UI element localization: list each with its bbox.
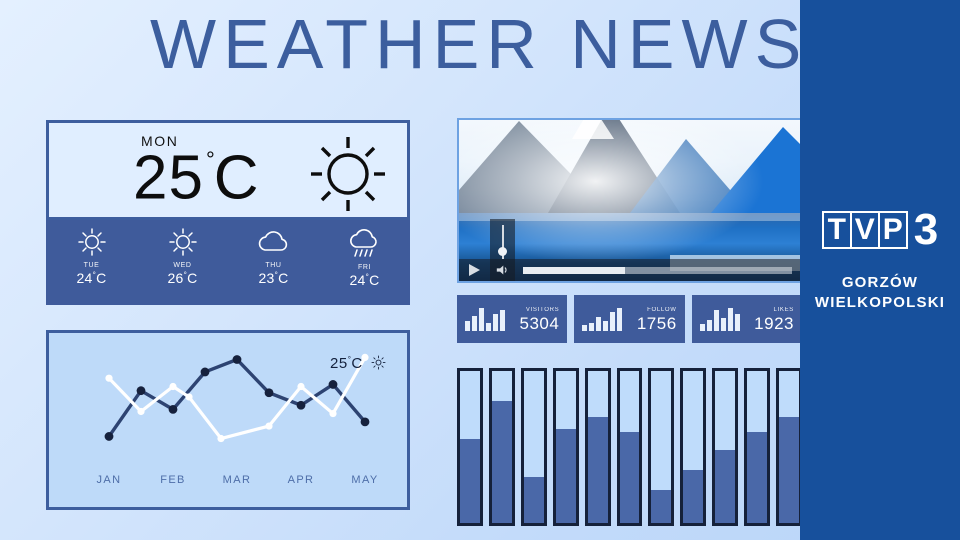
tvp-letter-row: T V P 3 bbox=[800, 208, 960, 252]
chart-x-tick: APR bbox=[288, 474, 315, 486]
gauge-bar bbox=[489, 368, 515, 526]
tvp-letter-v: V bbox=[850, 211, 880, 249]
chart-annotation: 25°C bbox=[330, 355, 386, 372]
forecast-temp-value: 24 bbox=[349, 272, 365, 288]
gauge-fill bbox=[492, 401, 512, 523]
chart-point bbox=[329, 380, 338, 389]
chart-line-light bbox=[109, 357, 365, 438]
gauge-bar bbox=[712, 368, 738, 526]
weather-card: MON 25°C bbox=[46, 120, 410, 305]
gauge-fill bbox=[524, 477, 544, 523]
forecast-day-label: TUE bbox=[84, 262, 100, 269]
video-player[interactable] bbox=[457, 118, 802, 283]
brand-region: WIELKOPOLSKI bbox=[800, 294, 960, 311]
forecast-day-wed[interactable]: WED 26°C bbox=[137, 220, 228, 305]
weather-news-graphic: WEATHER NEWS MON 25°C bbox=[0, 0, 960, 540]
current-temp-value: 25 bbox=[133, 144, 204, 213]
gauge-bar-group bbox=[457, 368, 802, 526]
gauge-fill bbox=[460, 439, 480, 523]
bar-chart-icon bbox=[700, 307, 752, 331]
chart-point bbox=[265, 422, 272, 429]
gauge-bar bbox=[457, 368, 483, 526]
chart-x-tick: JAN bbox=[97, 474, 122, 486]
chart-point bbox=[265, 388, 274, 397]
gauge-bar bbox=[553, 368, 579, 526]
bar-chart-icon bbox=[465, 307, 517, 331]
stat-card-follow[interactable]: FOLLOW 1756 bbox=[574, 295, 684, 343]
weather-current: MON 25°C bbox=[46, 120, 410, 220]
forecast-day-fri[interactable]: FRI 24°C bbox=[319, 220, 410, 305]
gauge-fill bbox=[715, 450, 735, 523]
stat-value: 5304 bbox=[520, 315, 560, 332]
forecast-day-thu[interactable]: THU 23°C bbox=[228, 220, 319, 305]
video-controls-bar bbox=[459, 259, 800, 281]
rain-cloud-icon bbox=[346, 227, 384, 261]
chart-point bbox=[217, 435, 224, 442]
chart-line-dark bbox=[109, 359, 365, 436]
forecast-temp-value: 24 bbox=[76, 270, 92, 286]
brand-panel: T V P 3 GORZÓW WIELKOPOLSKI bbox=[800, 0, 960, 540]
stat-value: 1923 bbox=[754, 315, 794, 332]
forecast-day-label: WED bbox=[173, 262, 191, 269]
forecast-temp-value: 26 bbox=[167, 270, 183, 286]
chart-point bbox=[201, 368, 210, 377]
current-temperature: 25°C bbox=[133, 139, 260, 210]
stat-card-likes[interactable]: LIKES 1923 bbox=[692, 295, 802, 343]
chart-point bbox=[329, 410, 336, 417]
gauge-fill bbox=[556, 429, 576, 523]
chart-point bbox=[297, 401, 306, 410]
chart-point bbox=[169, 383, 176, 390]
chart-point bbox=[105, 432, 114, 441]
chart-point bbox=[233, 355, 242, 364]
chart-point bbox=[361, 417, 370, 426]
chart-x-tick: MAY bbox=[351, 474, 378, 486]
tvp-channel-number: 3 bbox=[914, 208, 938, 252]
chart-anno-unit: C bbox=[351, 355, 362, 372]
forecast-temp-unit: C bbox=[369, 272, 379, 288]
sun-icon bbox=[75, 227, 109, 259]
tvp-letter-t: T bbox=[822, 211, 852, 249]
stat-text: LIKES 1923 bbox=[754, 307, 794, 332]
chart-point bbox=[137, 408, 144, 415]
forecast-strip: TUE 24°C WED 26°C bbox=[46, 220, 410, 305]
gauge-fill bbox=[779, 417, 799, 523]
forecast-day-tue[interactable]: TUE 24°C bbox=[46, 220, 137, 305]
gauge-bar bbox=[585, 368, 611, 526]
forecast-temp-value: 23 bbox=[258, 270, 274, 286]
gauge-fill bbox=[588, 417, 608, 523]
stat-text: FOLLOW 1756 bbox=[637, 307, 677, 332]
stat-text: VISITORS 5304 bbox=[520, 307, 560, 332]
gauge-fill bbox=[620, 432, 640, 523]
forecast-day-temp: 26°C bbox=[167, 270, 197, 286]
gauge-bar bbox=[617, 368, 643, 526]
cloud-icon bbox=[255, 227, 293, 259]
sun-icon bbox=[305, 131, 391, 217]
chart-anno-temp: 25 bbox=[330, 355, 348, 372]
video-progress-fill bbox=[523, 267, 625, 274]
chart-point bbox=[185, 393, 192, 400]
gauge-bar bbox=[521, 368, 547, 526]
forecast-temp-unit: C bbox=[278, 270, 288, 286]
forecast-temp-unit: C bbox=[187, 270, 197, 286]
stat-value: 1756 bbox=[637, 315, 677, 332]
chart-point bbox=[137, 386, 146, 395]
gauge-bar bbox=[776, 368, 802, 526]
forecast-day-temp: 24°C bbox=[76, 270, 106, 286]
current-temp-unit: C bbox=[214, 144, 260, 213]
sun-icon bbox=[166, 227, 200, 259]
page-title: WEATHER NEWS bbox=[150, 6, 850, 82]
stat-cards: VISITORS 5304 FOLLOW 1756 LIKES 1923 bbox=[457, 295, 802, 343]
forecast-day-label: FRI bbox=[358, 264, 371, 271]
tvp-letter-p: P bbox=[878, 211, 908, 249]
gauge-fill bbox=[651, 490, 671, 523]
chart-point bbox=[169, 405, 178, 414]
video-progress-bar[interactable] bbox=[523, 267, 792, 274]
stat-label: FOLLOW bbox=[637, 307, 677, 313]
forecast-day-temp: 23°C bbox=[258, 270, 288, 286]
chart-x-tick: FEB bbox=[160, 474, 186, 486]
stat-card-visitors[interactable]: VISITORS 5304 bbox=[457, 295, 567, 343]
stat-label: LIKES bbox=[754, 307, 794, 313]
forecast-temp-unit: C bbox=[96, 270, 106, 286]
volume-slider-knob[interactable] bbox=[498, 247, 507, 256]
chart-point bbox=[297, 383, 304, 390]
gauge-bar bbox=[680, 368, 706, 526]
sun-icon bbox=[371, 355, 386, 370]
gauge-bar bbox=[744, 368, 770, 526]
forecast-day-label: THU bbox=[265, 262, 281, 269]
temperature-line-chart: JANFEBMARAPRMAY 25°C bbox=[46, 330, 410, 510]
play-icon[interactable] bbox=[469, 264, 480, 276]
gauge-fill bbox=[747, 432, 767, 523]
stat-label: VISITORS bbox=[520, 307, 560, 313]
brand-city: GORZÓW bbox=[800, 274, 960, 291]
degree-symbol: ° bbox=[206, 147, 216, 172]
speaker-icon[interactable] bbox=[496, 264, 509, 276]
chart-point bbox=[105, 375, 112, 382]
tvp3-logo: T V P 3 GORZÓW WIELKOPOLSKI bbox=[800, 208, 960, 311]
chart-x-tick: MAR bbox=[223, 474, 252, 486]
bar-chart-icon bbox=[582, 307, 634, 331]
gauge-fill bbox=[683, 470, 703, 523]
gauge-bar bbox=[648, 368, 674, 526]
forecast-day-temp: 24°C bbox=[349, 272, 379, 288]
